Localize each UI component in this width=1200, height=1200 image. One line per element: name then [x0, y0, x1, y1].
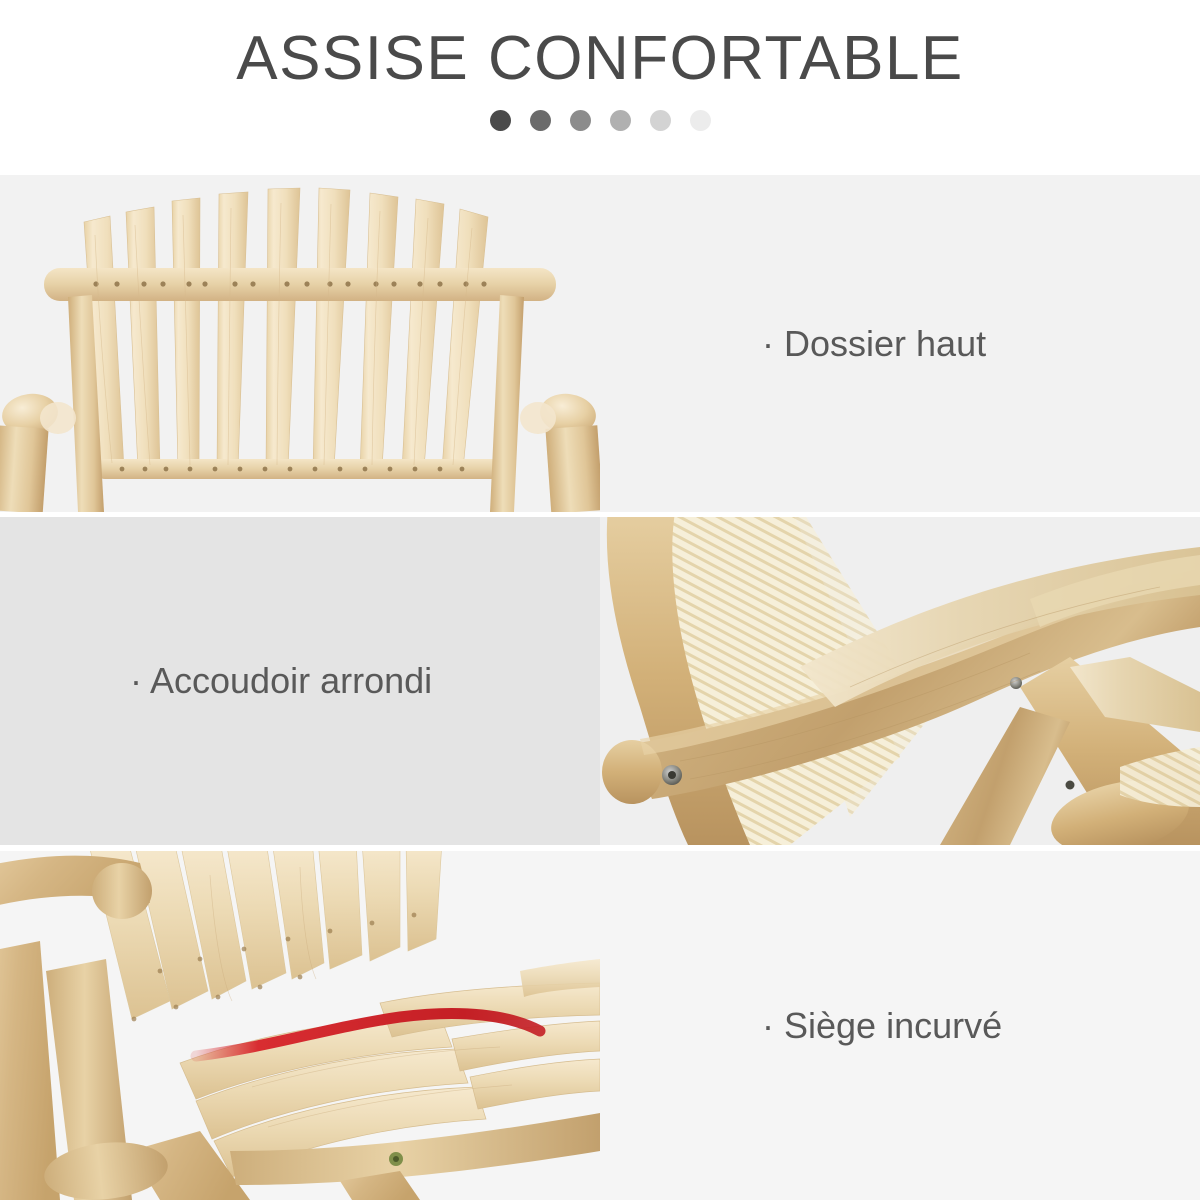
feature-label-accoudoir-arrondi: · Accoudoir arrondi	[0, 659, 432, 703]
log-end-cap	[92, 863, 152, 919]
bottom-rail	[96, 459, 508, 479]
progress-dots	[490, 110, 711, 131]
chair-back-illustration	[0, 175, 600, 512]
frame-log-2	[940, 707, 1070, 845]
dot-5	[650, 110, 671, 131]
feature-row-seat: · Siège incurvé	[0, 851, 1200, 1200]
label-panel-armrest: · Accoudoir arrondi	[0, 517, 600, 845]
armrest-left	[0, 390, 76, 512]
post-right	[490, 295, 524, 512]
armrest-illustration	[600, 517, 1200, 845]
label-panel-seat: · Siège incurvé	[600, 851, 1200, 1200]
feature-row-back: · Dossier haut	[0, 175, 1200, 512]
photo-chair-back	[0, 175, 600, 512]
photo-armrest	[600, 517, 1200, 845]
curved-seat-illustration	[0, 851, 600, 1200]
banner-header: ASSISE CONFORTABLE	[0, 0, 1200, 175]
page-title: ASSISE CONFORTABLE	[236, 22, 964, 96]
feature-row-armrest: · Accoudoir arrondi	[0, 517, 1200, 845]
label-panel-back: · Dossier haut	[600, 175, 1200, 512]
top-rail	[44, 268, 556, 301]
dot-6	[690, 110, 711, 131]
dot-1	[490, 110, 511, 131]
dot-3	[570, 110, 591, 131]
dot-4	[610, 110, 631, 131]
feature-label-siege-incurve: · Siège incurvé	[600, 1004, 1002, 1048]
dot-2	[530, 110, 551, 131]
armrest-right	[520, 390, 600, 512]
promo-banner: ASSISE CONFORTABLE	[0, 0, 1200, 1200]
feature-label-dossier-haut: · Dossier haut	[600, 322, 986, 366]
photo-curved-seat	[0, 851, 600, 1200]
